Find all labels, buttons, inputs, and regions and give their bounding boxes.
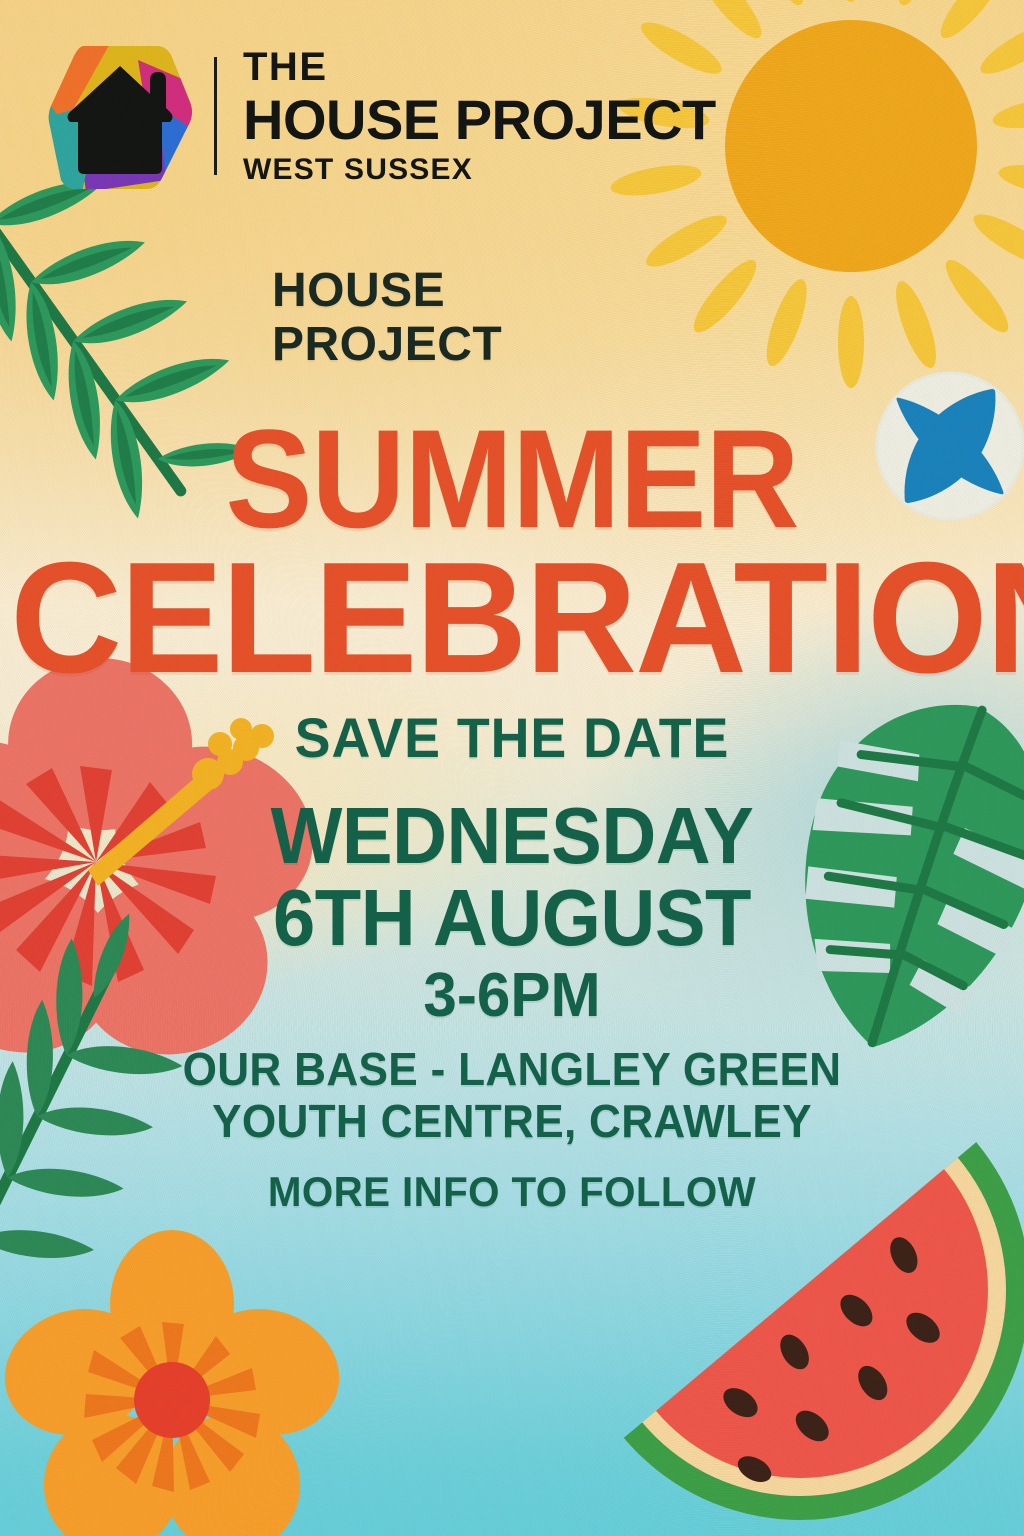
venue-line-1: OUR BASE - LANGLEY GREEN	[20, 1042, 1003, 1096]
kicker-line-1: HOUSE	[272, 264, 502, 318]
event-time: 3-6PM	[15, 960, 1008, 1031]
kicker-line-2: PROJECT	[272, 318, 502, 372]
venue-line-2: YOUTH CENTRE, CRAWLEY	[20, 1094, 1003, 1148]
summer-celebration-poster: THE HOUSE PROJECT WEST SUSSEX HOUSE PROJ…	[0, 0, 1024, 1536]
event-day: WEDNESDAY	[26, 790, 999, 882]
kicker-heading: HOUSE PROJECT	[272, 264, 502, 372]
more-info-note: MORE INFO TO FOLLOW	[20, 1168, 1003, 1216]
save-the-date-label: SAVE THE DATE	[20, 705, 1003, 770]
event-date: 6TH AUGUST	[26, 872, 999, 964]
poster-text-content: HOUSE PROJECT SUMMER CELEBRATION SAVE TH…	[0, 0, 1024, 1536]
title-line-celebration: CELEBRATION	[10, 528, 1014, 709]
